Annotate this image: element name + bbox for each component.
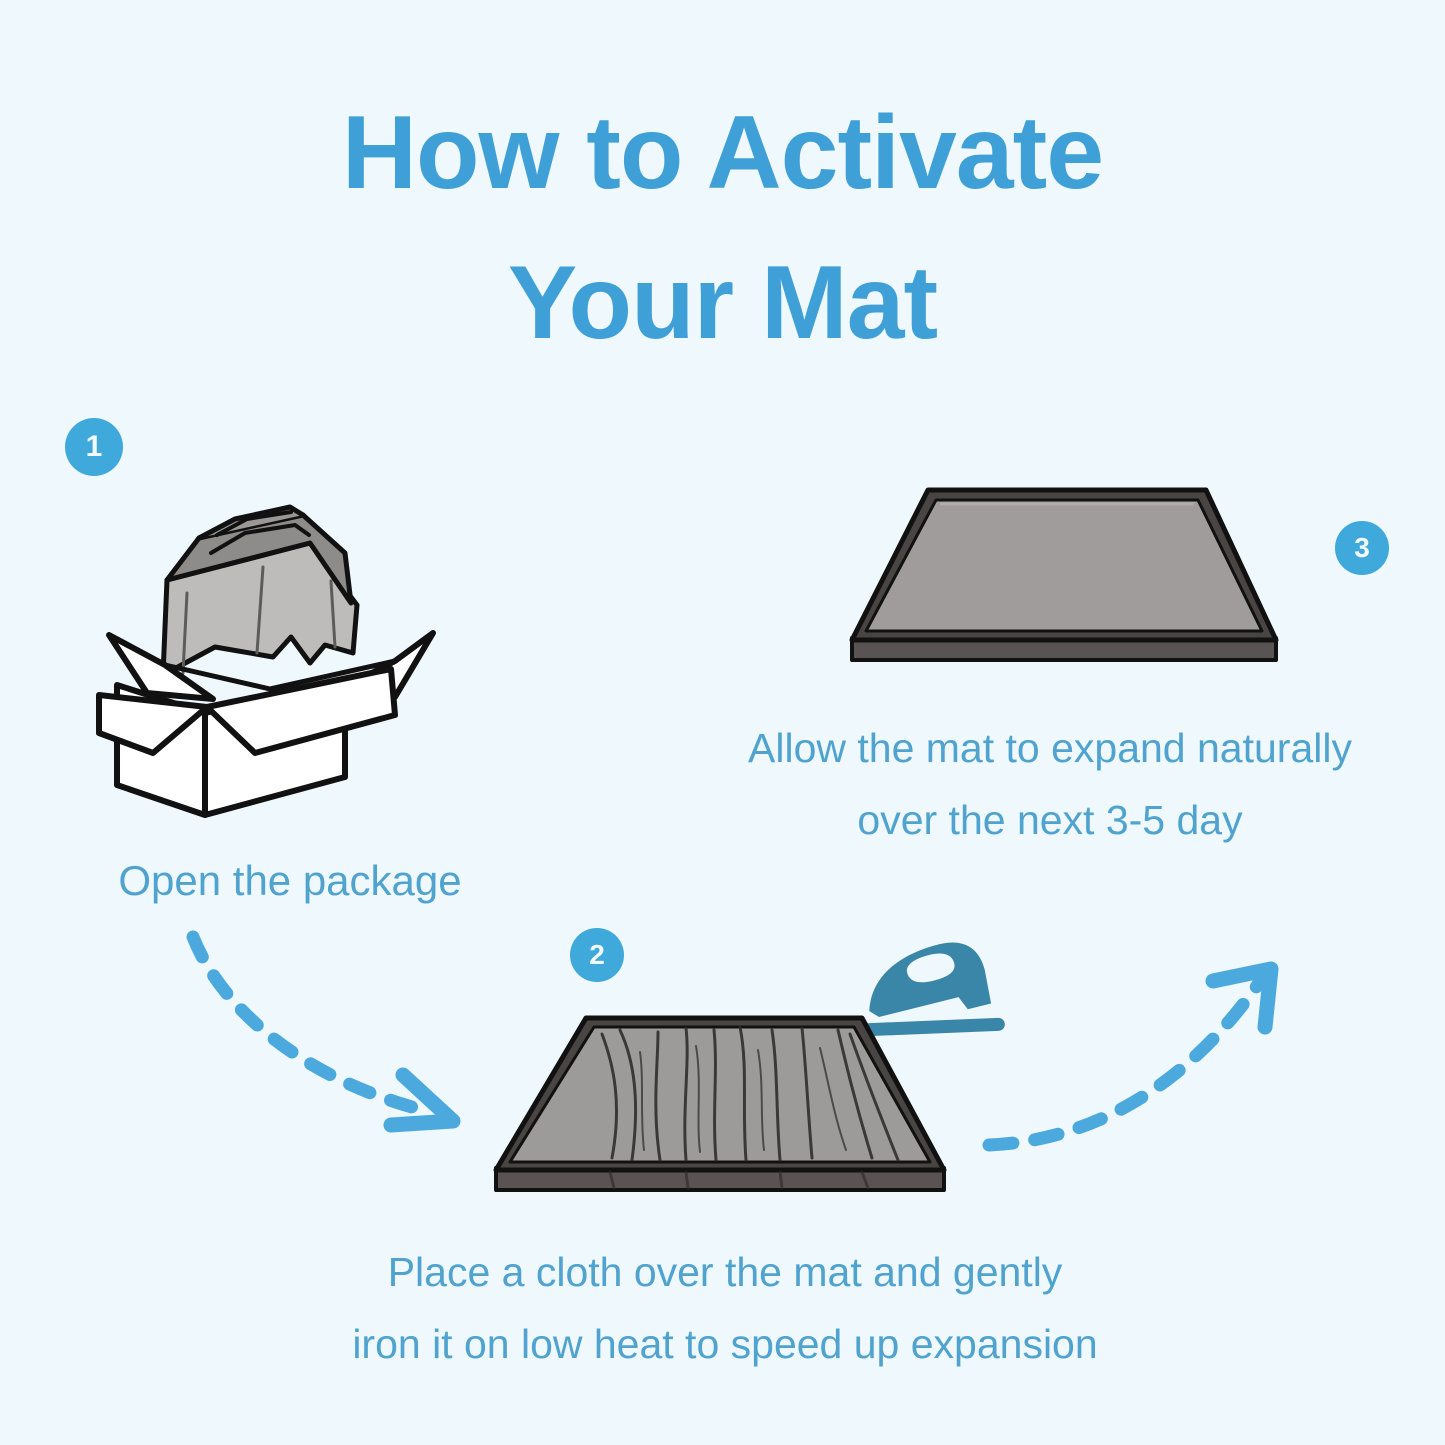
step-2-caption-line-1: Place a cloth over the mat and gently bbox=[255, 1236, 1195, 1308]
flat-mat-icon bbox=[830, 470, 1300, 670]
mat-with-cloth-illustration bbox=[490, 1000, 950, 1215]
page-title-line-1: How to Activate bbox=[0, 78, 1445, 228]
step-2-badge: 2 bbox=[570, 928, 624, 982]
step-3-badge: 3 bbox=[1335, 521, 1389, 575]
page-title: How to Activate Your Mat bbox=[0, 78, 1445, 378]
vacuum-sealed-mat-package bbox=[163, 507, 357, 675]
step-3-caption: Allow the mat to expand naturally over t… bbox=[660, 712, 1440, 856]
expanded-flat-mat-illustration bbox=[830, 470, 1300, 670]
step-3-caption-line-1: Allow the mat to expand naturally bbox=[660, 712, 1440, 784]
open-cardboard-box-illustration bbox=[95, 485, 445, 820]
step-2-caption: Place a cloth over the mat and gently ir… bbox=[255, 1236, 1195, 1380]
step-1-badge: 1 bbox=[65, 418, 123, 476]
mat-with-cloth-icon bbox=[490, 1000, 950, 1215]
step-1-caption: Open the package bbox=[60, 845, 520, 917]
box-icon bbox=[95, 485, 445, 820]
dashed-curved-arrow-up-right-icon bbox=[975, 955, 1295, 1165]
step-3-caption-line-2: over the next 3-5 day bbox=[660, 784, 1440, 856]
dashed-curved-arrow-down-right-icon bbox=[165, 925, 495, 1140]
infographic-canvas: How to Activate Your Mat 1 bbox=[0, 0, 1445, 1445]
page-title-line-2: Your Mat bbox=[0, 228, 1445, 378]
step-2-caption-line-2: iron it on low heat to speed up expansio… bbox=[255, 1308, 1195, 1380]
step-1-caption-line-1: Open the package bbox=[60, 845, 520, 917]
dashed-arrow-step2-to-step3 bbox=[975, 955, 1295, 1165]
dashed-arrow-step1-to-step2 bbox=[165, 925, 495, 1140]
